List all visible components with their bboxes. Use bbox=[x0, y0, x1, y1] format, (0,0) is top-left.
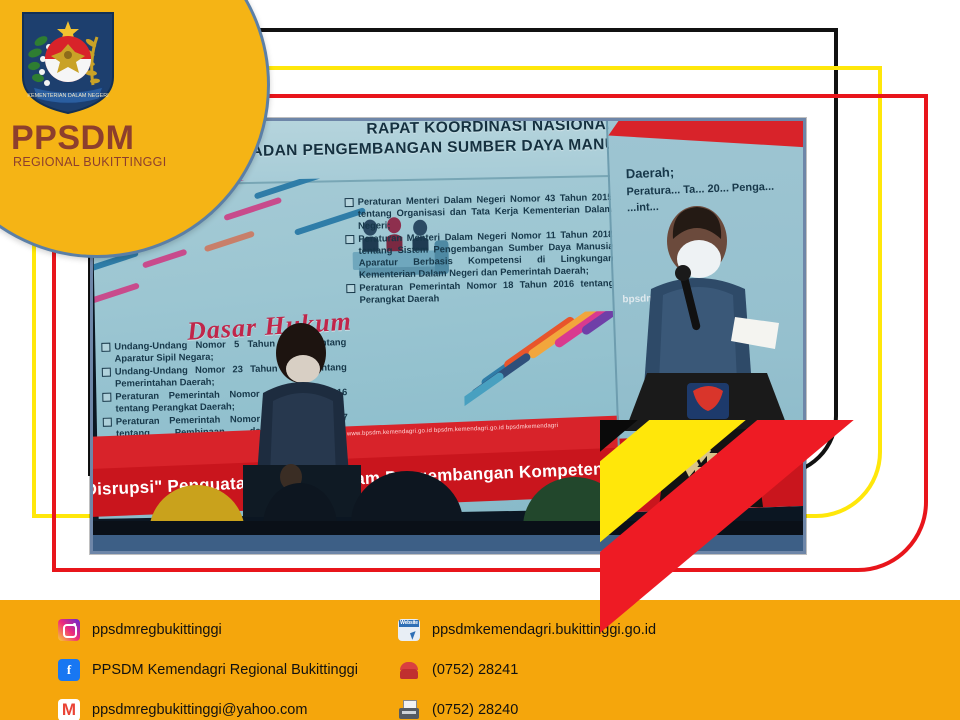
website-icon: Website bbox=[398, 619, 420, 641]
poster-canvas: RAPAT KOORDINASI NASIONAL BADAN PENGEMBA… bbox=[0, 0, 960, 720]
instagram-handle: ppsdmregbukittinggi bbox=[92, 622, 222, 638]
badge-content: KEMENTERIAN DALAM NEGERI PPSDM REGIONAL … bbox=[3, 3, 263, 255]
badge-subtitle: REGIONAL BUKITTINGGI bbox=[13, 155, 166, 169]
fax-icon bbox=[398, 699, 420, 720]
slide-footer-urls: www.bpsdm.kemendagri.go.id bpsdm.kemenda… bbox=[347, 423, 559, 437]
contact-row-telephone[interactable]: (0752) 28241 bbox=[398, 656, 656, 684]
ppsdm-badge: KEMENTERIAN DALAM NEGERI PPSDM REGIONAL … bbox=[0, 0, 270, 258]
facebook-page: PPSDM Kemendagri Regional Bukittinggi bbox=[92, 662, 358, 678]
contact-row-instagram[interactable]: ppsdmregbukittinggi bbox=[58, 616, 358, 644]
speaker-figure bbox=[611, 177, 791, 507]
speaker-podium bbox=[611, 177, 791, 507]
kemendagri-logo: KEMENTERIAN DALAM NEGERI bbox=[19, 11, 117, 115]
slide-mid-item: Peraturan Menteri Dalam Negeri Nomor 11 … bbox=[345, 228, 614, 281]
gmail-icon bbox=[58, 699, 80, 720]
fax-number: (0752) 28240 bbox=[432, 702, 518, 718]
website-url: ppsdmkemendagri.bukittinggi.go.id bbox=[432, 622, 656, 638]
contact-row-fax[interactable]: (0752) 28240 bbox=[398, 696, 656, 720]
stage-front-edge bbox=[93, 535, 803, 551]
contact-row-website[interactable]: Website ppsdmkemendagri.bukittinggi.go.i… bbox=[398, 616, 656, 644]
stage-shadow bbox=[93, 521, 803, 535]
telephone-number: (0752) 28241 bbox=[432, 662, 518, 678]
telephone-icon bbox=[398, 659, 420, 681]
slide-mid-item: Peraturan Pemerintah Nomor 18 Tahun 2016… bbox=[346, 277, 614, 306]
slide-mid-item: Peraturan Menteri Dalam Negeri Nomor 43 … bbox=[345, 191, 614, 232]
facebook-icon: f bbox=[58, 659, 80, 681]
badge-title: PPSDM bbox=[11, 119, 134, 158]
contact-row-facebook[interactable]: f PPSDM Kemendagri Regional Bukittinggi bbox=[58, 656, 358, 684]
slide-mid-column: Peraturan Menteri Dalam Negeri Nomor 43 … bbox=[345, 191, 615, 307]
slide-right-red-wedge bbox=[607, 118, 806, 155]
contact-column-left: ppsdmregbukittinggi f PPSDM Kemendagri R… bbox=[58, 616, 358, 720]
footer-bar: ppsdmregbukittinggi f PPSDM Kemendagri R… bbox=[0, 600, 960, 720]
contact-column-right: Website ppsdmkemendagri.bukittinggi.go.i… bbox=[398, 616, 656, 720]
contact-row-email[interactable]: ppsdmregbukittinggi@yahoo.com bbox=[58, 696, 358, 720]
instagram-icon bbox=[58, 619, 80, 641]
email-address: ppsdmregbukittinggi@yahoo.com bbox=[92, 702, 307, 718]
logo-ribbon-text: KEMENTERIAN DALAM NEGERI bbox=[27, 93, 108, 99]
